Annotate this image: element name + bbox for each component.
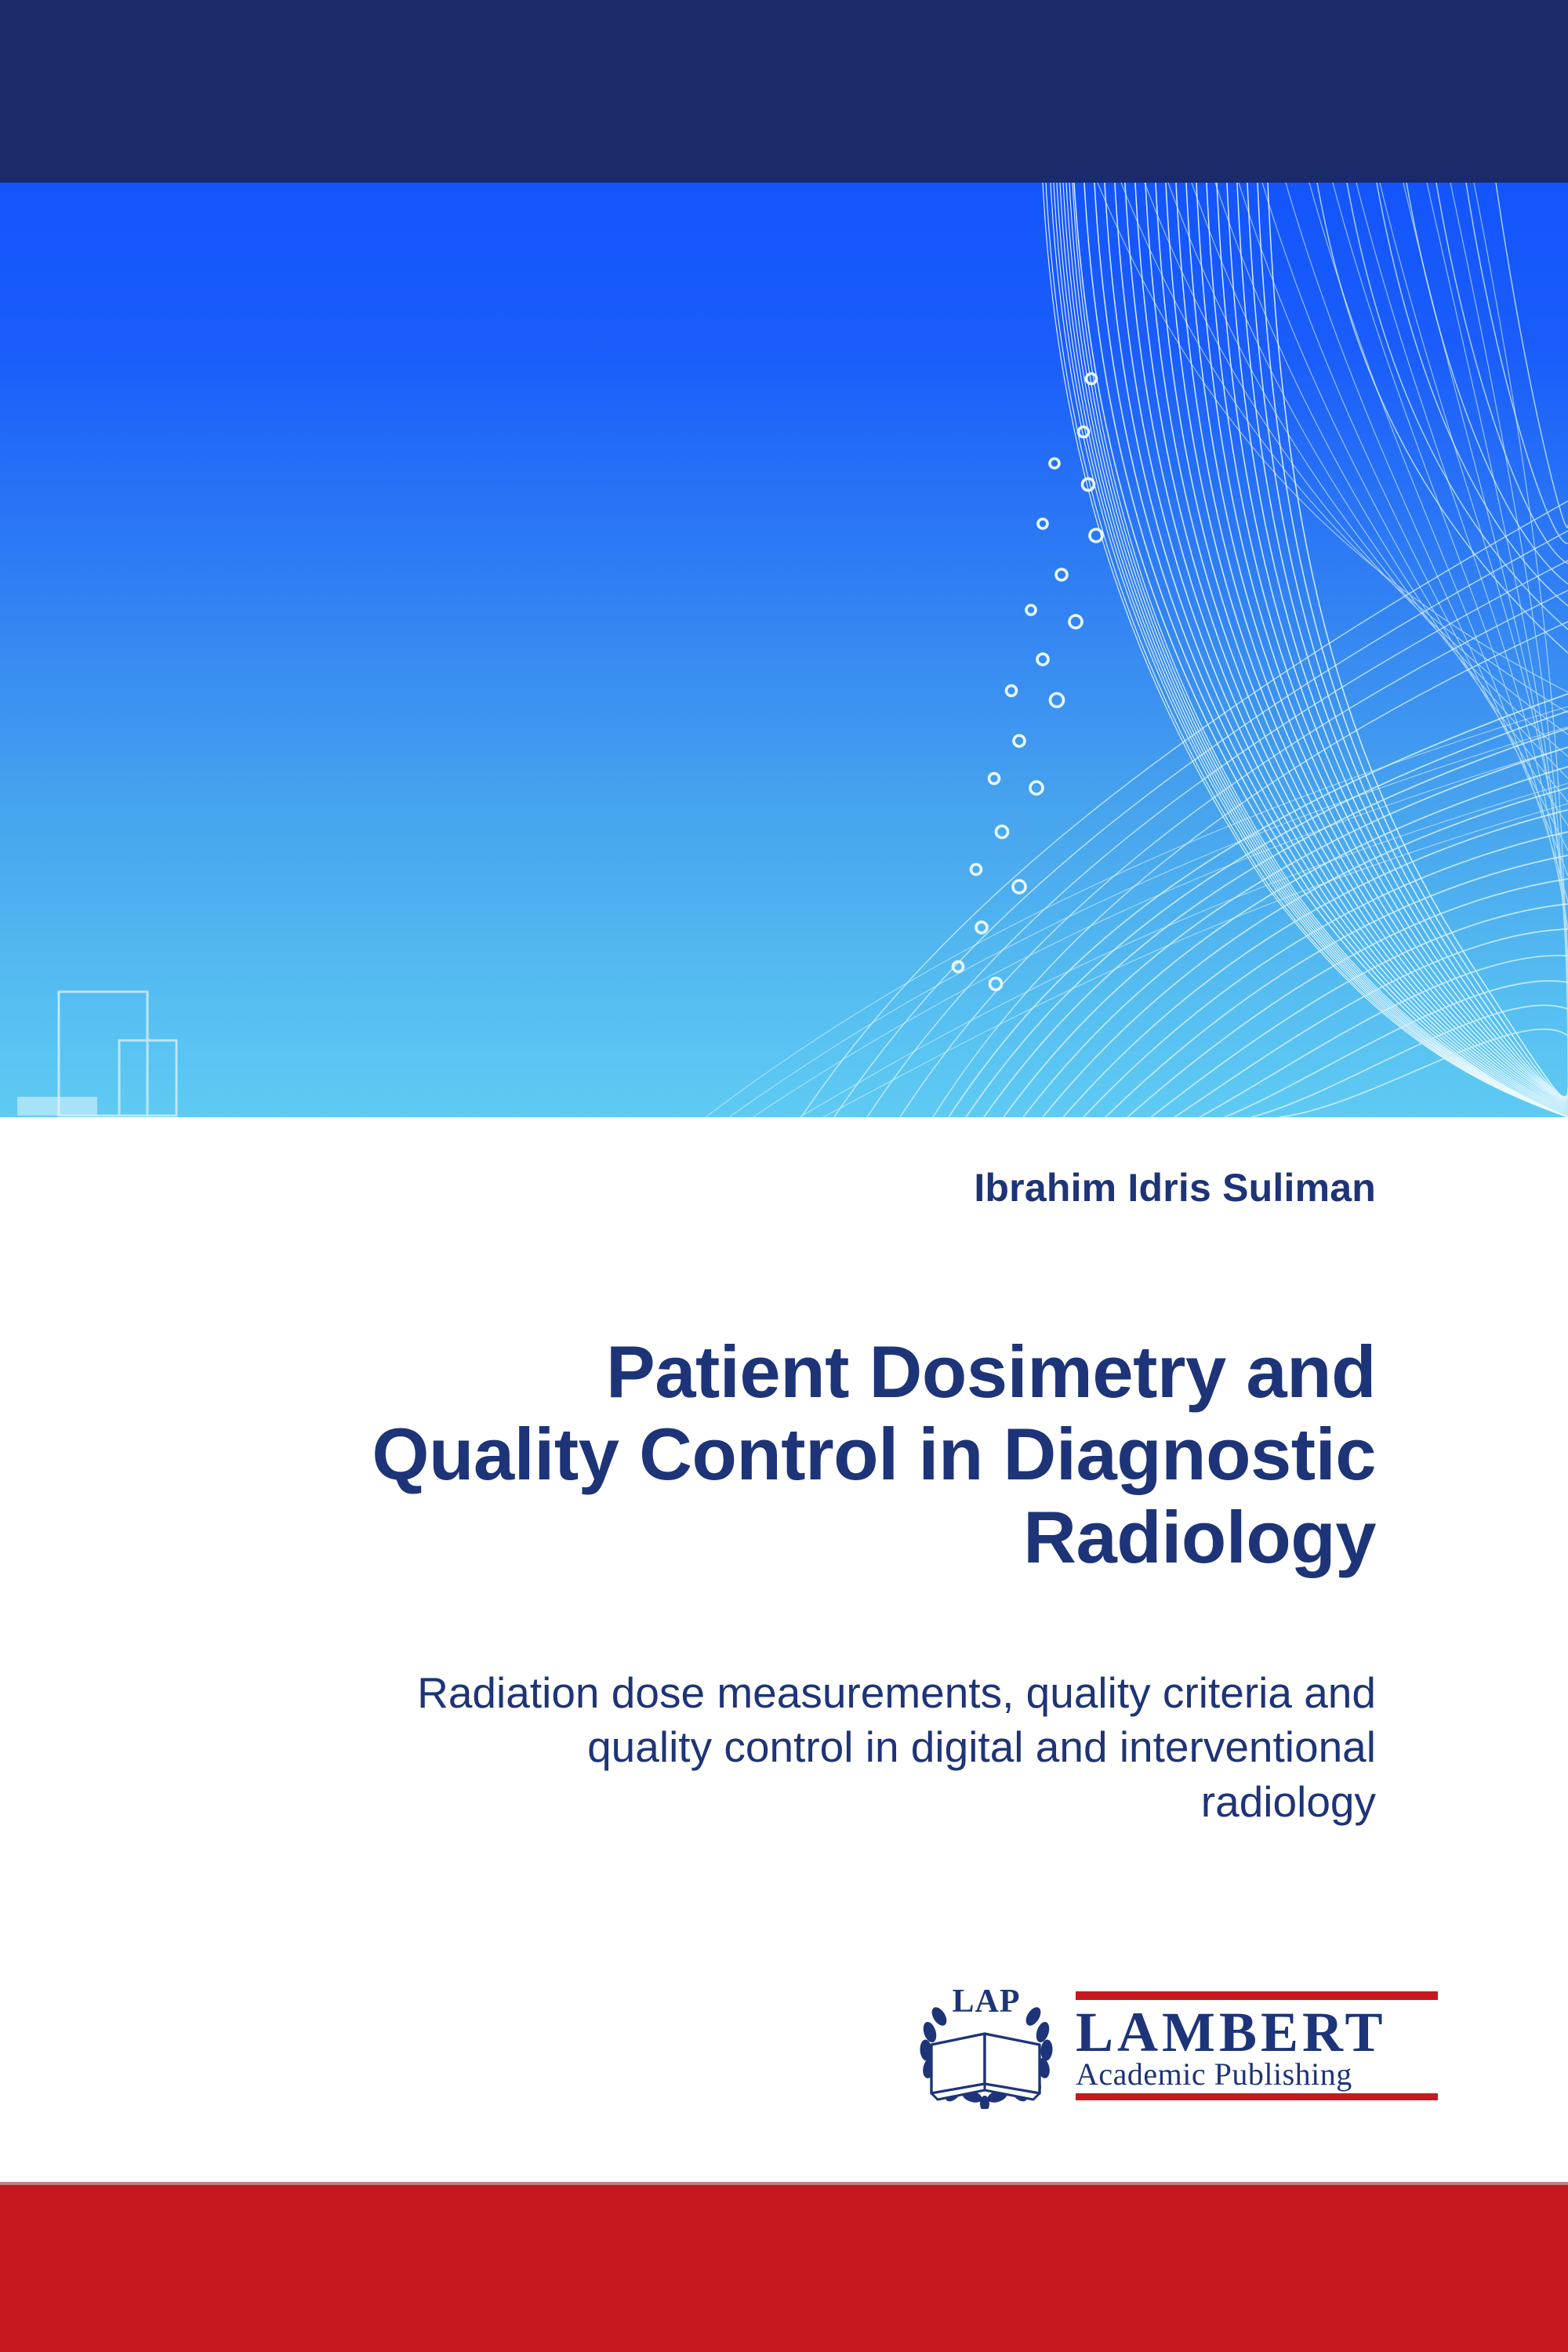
lap-emblem-text: LAP	[953, 1984, 1021, 2020]
subtitle-line-3: radiology	[1201, 1777, 1376, 1826]
top-navy-band	[0, 0, 1568, 183]
ring-dot-trail	[953, 374, 1103, 990]
publisher-logo: LAP LAMBERT Academic Publishing	[909, 1976, 1443, 2109]
book-cover: Ibrahim Idris Suliman Patient Dosimetry …	[0, 0, 1568, 2352]
subtitle-line-1: Radiation dose measurements, quality cri…	[417, 1668, 1376, 1717]
logo-bottom-red-rule	[1076, 2093, 1438, 2100]
title-line-3: Radiology	[1023, 1496, 1376, 1578]
decorative-plinth	[17, 1097, 97, 1116]
book-subtitle: Radiation dose measurements, quality cri…	[184, 1666, 1376, 1829]
title-line-2: Quality Control in Diagnostic	[372, 1413, 1376, 1495]
lap-lambert-logo-svg: LAP LAMBERT Academic Publishing	[909, 1976, 1443, 2109]
publisher-tagline: Academic Publishing	[1076, 2056, 1352, 2092]
book-title: Patient Dosimetry and Quality Control in…	[200, 1330, 1376, 1578]
author-name: Ibrahim Idris Suliman	[974, 1165, 1376, 1210]
string-art-pattern	[0, 183, 1568, 1117]
open-book-icon	[931, 2034, 1040, 2100]
subtitle-line-2: quality control in digital and intervent…	[587, 1722, 1376, 1771]
cover-text-zone: Ibrahim Idris Suliman Patient Dosimetry …	[0, 1117, 1568, 2185]
title-line-1: Patient Dosimetry and	[606, 1330, 1376, 1413]
cover-artwork-panel	[0, 183, 1568, 1117]
logo-top-red-rule	[1076, 1991, 1438, 2000]
publisher-name: LAMBERT	[1076, 2001, 1387, 2063]
bottom-red-band	[0, 2185, 1568, 2352]
fan-bundle-mesh	[1098, 183, 1568, 1098]
